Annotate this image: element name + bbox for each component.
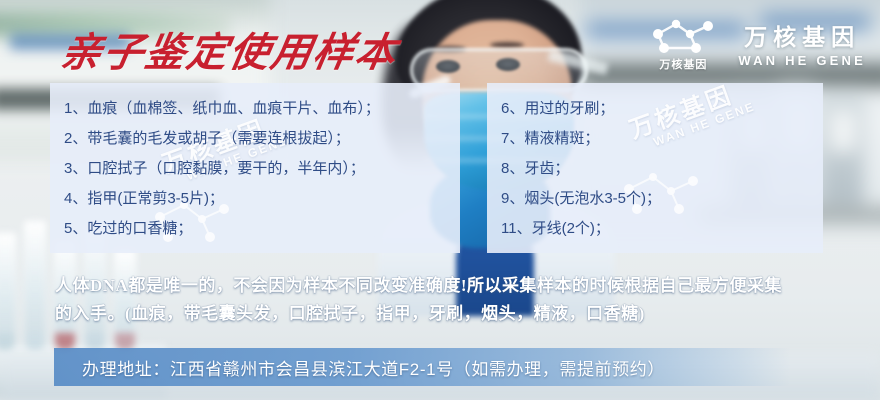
- sample-list-left: 1、血痕（血棉签、纸巾血、血痕干片、血布）； 2、带毛囊的毛发或胡子（需要连根拔…: [50, 83, 460, 244]
- address-bar: 办理地址：江西省赣州市会昌县滨江大道F2-1号（如需办理，需提前预约）: [54, 348, 790, 386]
- logo-mark-label: 万核基因: [646, 56, 720, 72]
- note-line-1: 人体DNA都是唯一的，不会因为样本不同改变准确度!所以采集样本的时候根据自己最方…: [55, 272, 845, 300]
- brand-logo: 万核基因 万核基因 WAN HE GENE: [646, 16, 866, 70]
- list-item: 3、口腔拭子（口腔黏膜，要干的，半年内）；: [64, 154, 460, 184]
- molecule-icon: 万核基因: [646, 16, 720, 70]
- page-title: 亲子鉴定使用样本: [57, 20, 403, 78]
- list-item: 2、带毛囊的毛发或胡子（需要连根拔起）；: [64, 124, 460, 154]
- sample-list-panel-left: 万核基因 WAN HE GENE 1、血痕（血棉签、纸巾血、: [50, 83, 460, 253]
- list-item: 5、吃过的口香糖；: [64, 214, 460, 244]
- list-item: 9、烟头(无泡水3-5个)；: [501, 184, 823, 214]
- list-item: 4、指甲(正常剪3-5片)；: [64, 184, 460, 214]
- note-line-2: 的入手。(血痕，带毛囊头发，口腔拭子，指甲，牙刷，烟头，精液，口香糖): [55, 300, 845, 328]
- list-item: 8、牙齿；: [501, 154, 823, 184]
- list-item: 7、精液精斑；: [501, 124, 823, 154]
- list-item: 6、用过的牙刷；: [501, 94, 823, 124]
- list-item: 11、牙线(2个)；: [501, 214, 823, 244]
- logo-name-cn: 万核基因: [744, 18, 860, 52]
- sample-list-right: 6、用过的牙刷； 7、精液精斑； 8、牙齿； 9、烟头(无泡水3-5个)； 11…: [487, 83, 823, 244]
- poster-canvas: 亲子鉴定使用样本: [0, 0, 880, 400]
- address-text: 办理地址：江西省赣州市会昌县滨江大道F2-1号（如需办理，需提前预约）: [54, 355, 665, 380]
- note-paragraph: 人体DNA都是唯一的，不会因为样本不同改变准确度!所以采集样本的时候根据自己最方…: [55, 272, 845, 328]
- sample-list-panel-right: 万核基因 WAN HE GENE 6、用过的牙刷；: [487, 83, 823, 253]
- list-item: 1、血痕（血棉签、纸巾血、血痕干片、血布）；: [64, 94, 460, 124]
- logo-name-en: WAN HE GENE: [738, 53, 866, 68]
